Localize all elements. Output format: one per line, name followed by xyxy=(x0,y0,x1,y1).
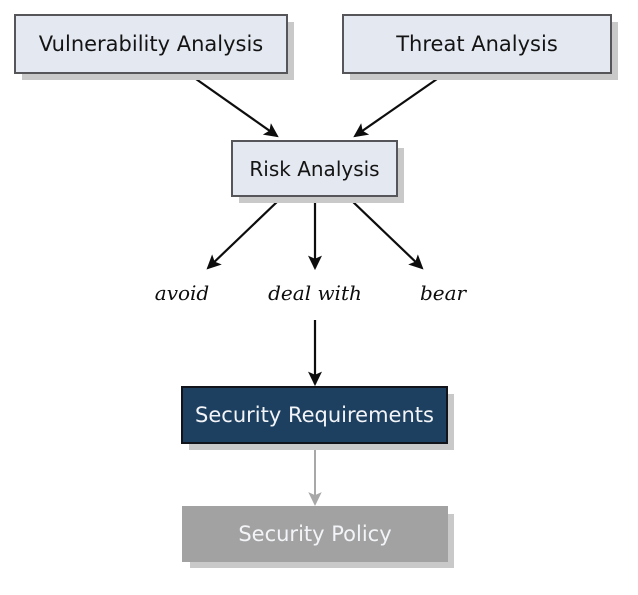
node-threat-analysis[interactable]: Threat Analysis xyxy=(342,14,612,74)
edge-threat-to-risk xyxy=(355,79,437,136)
node-label-risk-analysis: Risk Analysis xyxy=(249,159,379,179)
node-label-vulnerability-analysis: Vulnerability Analysis xyxy=(39,34,264,55)
node-label-threat-analysis: Threat Analysis xyxy=(396,34,558,55)
node-vulnerability-analysis[interactable]: Vulnerability Analysis xyxy=(14,14,288,74)
edge-risk-to-bear xyxy=(351,200,422,268)
node-security-policy[interactable]: Security Policy xyxy=(182,506,448,562)
node-label-security-requirements: Security Requirements xyxy=(195,405,434,426)
diagram-canvas: Vulnerability Analysis Threat Analysis R… xyxy=(0,0,638,595)
node-label-security-policy: Security Policy xyxy=(238,524,391,545)
node-risk-analysis[interactable]: Risk Analysis xyxy=(231,140,398,197)
edge-vulnerability-to-risk xyxy=(196,79,277,136)
edge-label-bear: bear xyxy=(124,283,638,303)
node-security-requirements[interactable]: Security Requirements xyxy=(181,386,448,444)
edge-risk-to-avoid xyxy=(208,200,279,268)
